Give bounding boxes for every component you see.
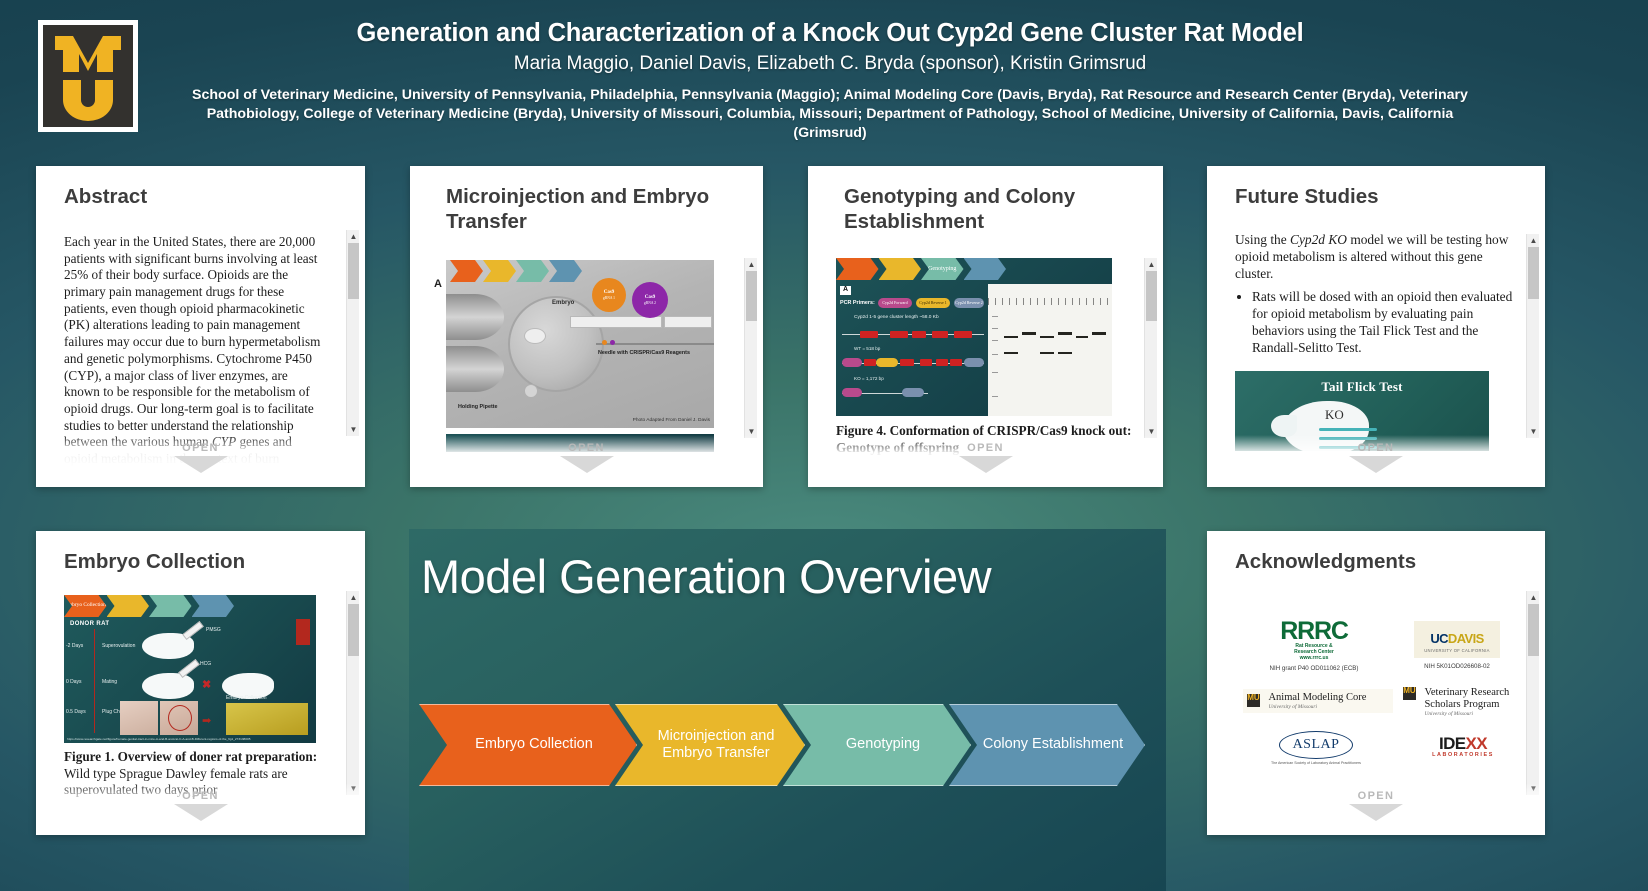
timeline-time-1: 0 Days — [66, 679, 82, 685]
open-affordance-embryo-collection[interactable]: OPEN — [36, 783, 365, 835]
mini-chev-genotyping: Genotyping — [921, 258, 964, 280]
photo-credit: Photo Adapted From Daniel J. Davis — [633, 418, 710, 424]
chevron-up-icon[interactable]: ▲ — [745, 258, 758, 271]
panel-heading: Future Studies — [1207, 166, 1545, 209]
idexx-wordmark: IDEXX — [1407, 735, 1519, 752]
ucdavis-uc: UC — [1430, 631, 1448, 646]
ko-primer-right — [902, 388, 924, 397]
holding-pipette-top — [446, 294, 504, 340]
holding-pipette-bottom — [446, 346, 504, 392]
figure-genotyping: Genotyping A B PCR Primers: Cyp2d Forwar… — [836, 258, 1112, 416]
panel-heading: Abstract — [36, 166, 365, 209]
wt-exon-1 — [864, 359, 876, 366]
mini-chev-colony — [549, 260, 582, 282]
plug-check-photo-1 — [120, 701, 158, 735]
workflow-flowchart: Embryo Collection Microinjection and Emb… — [419, 704, 1154, 786]
logo-idexx: IDEXX LABORATORIES — [1407, 735, 1519, 758]
logo-aslap: ASLAP The American Society of Laboratory… — [1261, 731, 1371, 765]
scrollbar-microinjection[interactable]: ▲ ▼ — [744, 258, 757, 438]
red-marker — [296, 619, 310, 645]
mu-logo — [38, 20, 138, 132]
timeline-axis — [94, 629, 95, 733]
tail-bar-1 — [1319, 428, 1377, 431]
gel-band — [1040, 352, 1054, 354]
mini-chev-microinjection — [107, 595, 150, 617]
scrollbar-thumb[interactable] — [348, 243, 359, 299]
gel-band — [1004, 352, 1018, 354]
gel-band — [1058, 352, 1072, 354]
future-intro-italic: Cyp2d KO — [1290, 232, 1347, 247]
open-label: OPEN — [568, 442, 605, 454]
panel-heading: Microinjection and Embryo Transfer — [410, 166, 763, 234]
mini-workflow-strip — [450, 260, 582, 279]
exon-3 — [912, 331, 926, 338]
rrrc-grant: NIH grant P40 OD011062 (ECB) — [1249, 665, 1379, 672]
open-affordance-microinjection[interactable]: OPEN — [410, 435, 763, 487]
embryo-label: Embryo — [552, 300, 574, 308]
mini-chev-embryo — [450, 260, 483, 282]
chevron-up-icon[interactable]: ▲ — [347, 230, 360, 243]
list-item: Rats will be dosed with an opioid then e… — [1252, 289, 1519, 357]
rat-female-2 — [142, 673, 194, 699]
timeline-time-0: -2 Days — [66, 643, 83, 649]
mini-chev-colony — [964, 258, 1007, 280]
abstract-text-pre: Each year in the United States, there ar… — [64, 234, 320, 449]
ucdavis-davis: DAVIS — [1448, 631, 1484, 646]
holding-pipette-label: Holding Pipette — [458, 404, 498, 411]
page-title: Generation and Characterization of a Kno… — [150, 18, 1510, 48]
logo-ucdavis: UCDAVIS UNIVERSITY OF CALIFORNIA NIH 5K0… — [1397, 621, 1517, 670]
wt-primer-left — [842, 358, 862, 367]
panel-embryo-collection[interactable]: Embryo Collection Embryo Collection DONO… — [36, 531, 365, 835]
author-list: Maria Maggio, Daniel Davis, Elizabeth C.… — [150, 53, 1510, 76]
timeline-event-1: Mating — [102, 679, 117, 685]
exon-4 — [932, 331, 948, 338]
gel-ladder-tick — [992, 372, 998, 373]
mini-chev-colony — [192, 595, 235, 617]
rat-head — [1271, 415, 1297, 437]
scrollbar-genotyping[interactable]: ▲ ▼ — [1144, 258, 1157, 438]
wt-exon-3 — [920, 359, 932, 366]
gel-ladder-tick — [992, 396, 998, 397]
mini-chev-microinjection — [879, 258, 922, 280]
rrrc-sub-3: www.rrrc.us — [1249, 656, 1379, 662]
mini-workflow-strip: Genotyping — [836, 258, 1006, 282]
scrollbar-embryo-collection[interactable]: ▲ ▼ — [346, 591, 359, 795]
flow-step-genotyping[interactable]: Genotyping — [783, 704, 971, 786]
exon-5 — [954, 331, 972, 338]
gel-band — [1040, 336, 1054, 338]
rrrc-wordmark: RRRC — [1249, 619, 1379, 644]
wt-primer-right — [964, 358, 984, 367]
chevron-down-icon — [1349, 456, 1403, 473]
cas9-bubble-1: Cas9 gRNA 1 — [592, 278, 626, 312]
panel-future-studies[interactable]: Future Studies Using the Cyp2d KO model … — [1207, 166, 1545, 487]
chevron-up-icon[interactable]: ▲ — [1145, 258, 1158, 271]
ko-size-label: KO = 1,172 bp — [854, 376, 884, 382]
embryo-cell — [508, 296, 604, 392]
mini-chev-genotyping — [516, 260, 549, 282]
scrollbar-abstract[interactable]: ▲ ▼ — [346, 230, 359, 436]
wt-primer-mid — [876, 358, 898, 367]
panel-heading: Genotyping and Colony Establishment — [808, 166, 1163, 234]
gel-ladder-tick — [992, 354, 998, 355]
panel-acknowledgments[interactable]: Acknowledgments RRRC Rat Resource & Rese… — [1207, 531, 1545, 835]
ucdavis-wordmark: UCDAVIS UNIVERSITY OF CALIFORNIA — [1414, 621, 1500, 658]
mini-chev-genotyping — [149, 595, 192, 617]
panel-model-generation-overview[interactable]: Model Generation Overview Embryo Collect… — [409, 529, 1166, 891]
open-label: OPEN — [967, 442, 1004, 454]
scrollbar-thumb[interactable] — [1528, 604, 1539, 656]
primer-forward: Cyp2d Forward — [878, 298, 912, 308]
ko-primer-left — [842, 388, 862, 397]
open-affordance-abstract[interactable]: OPEN — [36, 435, 365, 487]
open-label: OPEN — [1358, 442, 1395, 454]
section-title: Model Generation Overview — [409, 529, 1166, 604]
chevron-down-icon — [174, 456, 228, 473]
syringe-pmsg — [182, 621, 204, 640]
syringe-hcg — [178, 659, 200, 678]
tail-flick-title: Tail Flick Test — [1235, 371, 1489, 395]
flow-step-colony-establishment[interactable]: Colony Establishment — [949, 704, 1145, 786]
gel-ladder-tick — [992, 340, 998, 341]
idexx-xx: XX — [1466, 734, 1487, 753]
gel-band — [1092, 332, 1106, 335]
reagent-dot-orange — [602, 340, 607, 345]
grna-label-2: gRNA 2 — [644, 301, 656, 306]
panel-genotyping[interactable]: Genotyping and Colony Establishment Geno… — [808, 166, 1163, 487]
cas9-bubble-2: Cas9 gRNA 2 — [632, 282, 668, 318]
primer-reverse-2: Cyp2d Reverse 2 — [954, 298, 984, 308]
chevron-down-icon — [560, 456, 614, 473]
amc-title: Animal Modeling Core — [1268, 692, 1366, 703]
wt-exon-2 — [900, 359, 914, 366]
mini-chev-embryo — [836, 258, 879, 280]
figure-panel-letter-a: A — [840, 286, 851, 295]
logo-rrrc: RRRC Rat Resource & Research Center www.… — [1249, 619, 1379, 672]
affiliation-list: School of Veterinary Medicine, Universit… — [150, 86, 1510, 143]
exon-1 — [860, 331, 878, 338]
cross-icon: ✖ — [202, 679, 211, 693]
hcg-label: HCG — [200, 661, 211, 667]
figure-source-url: https://www.researchgate.net/figure/Fema… — [67, 738, 313, 742]
needle-label: Needle with CRISPR/Cas9 Reagents — [598, 350, 690, 357]
pcr-primers-label: PCR Primers: — [840, 300, 875, 307]
gel-band — [1058, 332, 1072, 335]
ko-label: KO — [1325, 407, 1344, 423]
gel-lane-labels — [988, 298, 1112, 305]
poster-header: Generation and Characterization of a Kno… — [0, 0, 1648, 160]
gel-image — [988, 284, 1112, 416]
primer-reverse-1: Cyp2d Reverse 1 — [916, 298, 950, 308]
pronucleus — [524, 328, 546, 344]
title-block: Generation and Characterization of a Kno… — [150, 18, 1510, 143]
arrow-right-icon: ➡ — [202, 715, 211, 729]
amc-sub: University of Missouri — [1268, 704, 1366, 710]
mu-mark-icon: MU — [1247, 694, 1260, 707]
polar-body — [524, 384, 538, 398]
logo-animal-modeling-core: MU Animal Modeling CoreUniversity of Mis… — [1243, 689, 1393, 713]
gel-band — [1004, 336, 1018, 338]
mu-mark-icon: MU — [1403, 687, 1416, 700]
open-affordance-future-studies[interactable]: OPEN — [1207, 435, 1545, 487]
embryo-collection-label: Embryo Collection — [226, 695, 267, 701]
logo-vrsp: MU Veterinary Research Scholars ProgramU… — [1403, 687, 1539, 717]
cluster-length-label: Cyp2d 1-5 gene cluster length ~58.0 Kb — [854, 315, 939, 321]
mini-chev-embryo: Embryo Collection — [64, 595, 107, 617]
exon-2 — [890, 331, 908, 338]
wt-exon-5 — [950, 359, 962, 366]
open-label: OPEN — [1358, 790, 1395, 802]
figure-caption-bold: Figure 1. Overview of doner rat preparat… — [64, 749, 317, 764]
future-intro-pre: Using the — [1235, 232, 1290, 247]
aslap-wordmark: ASLAP — [1279, 731, 1353, 759]
pmsg-label: PMSG — [206, 627, 221, 633]
flow-step-embryo-collection[interactable]: Embryo Collection — [419, 704, 637, 786]
idexx-ide: IDE — [1439, 734, 1466, 753]
gel-ladder-tick — [992, 328, 998, 329]
open-label: OPEN — [182, 442, 219, 454]
chevron-down-icon — [174, 804, 228, 821]
flow-step-microinjection-embryo-transfer[interactable]: Microinjection and Embryo Transfer — [615, 704, 805, 786]
scrollbar-thumb[interactable] — [1146, 271, 1157, 321]
scrollbar-thumb[interactable] — [746, 271, 757, 321]
poster-canvas: Generation and Characterization of a Kno… — [0, 0, 1648, 891]
gel-band — [1022, 332, 1036, 335]
embryo-dish-photo — [226, 703, 308, 735]
figure-microinjection: Cas9 gRNA 1 Cas9 gRNA 2 Embryo Needle wi… — [446, 260, 714, 428]
donor-rat-label: DONOR RAT — [70, 621, 110, 629]
gel-ladder-tick — [992, 316, 998, 317]
scrollbar-thumb[interactable] — [348, 604, 359, 656]
mini-chev-microinjection — [483, 260, 516, 282]
panel-microinjection[interactable]: Microinjection and Embryo Transfer A — [410, 166, 763, 487]
scrollbar-thumb[interactable] — [1528, 247, 1539, 299]
grna-label-1: gRNA 1 — [603, 296, 615, 301]
open-affordance-genotyping[interactable]: OPEN — [808, 435, 1163, 487]
mini-workflow-strip: Embryo Collection — [64, 595, 234, 617]
scrollbar-acknowledgments[interactable]: ▲ ▼ — [1526, 591, 1539, 795]
timeline-time-2: 0.5 Days — [66, 709, 86, 715]
vrsp-title: Veterinary Research Scholars Program — [1424, 687, 1509, 710]
aslap-sub: The American Society of Laboratory Anima… — [1261, 761, 1371, 765]
ucdavis-grant: NIH 5K01OD026608-02 — [1397, 663, 1517, 670]
panel-heading: Embryo Collection — [36, 531, 365, 574]
chevron-down-icon — [1349, 804, 1403, 821]
idexx-sub: LABORATORIES — [1407, 752, 1519, 758]
scale-ruler-right — [664, 316, 712, 328]
ucdavis-sub: UNIVERSITY OF CALIFORNIA — [1424, 648, 1490, 653]
scrollbar-future-studies[interactable]: ▲ ▼ — [1526, 234, 1539, 438]
wt-size-label: WT = 518 bp — [854, 346, 880, 352]
panel-heading: Acknowledgments — [1207, 531, 1545, 574]
chevron-down-icon — [959, 456, 1013, 473]
wt-exon-4 — [936, 359, 948, 366]
figure-panel-letter: A — [434, 278, 442, 292]
chevron-up-icon[interactable]: ▲ — [1527, 234, 1540, 247]
plug-check-highlight — [168, 705, 192, 731]
chevron-up-icon[interactable]: ▲ — [1527, 591, 1540, 604]
figure-embryo-collection: Embryo Collection DONOR RAT -2 Days Supe… — [64, 595, 316, 743]
reagent-dot-purple — [610, 340, 615, 345]
timeline-event-0: Superovulation — [102, 643, 135, 649]
open-label: OPEN — [182, 790, 219, 802]
panel-abstract[interactable]: Abstract Each year in the United States,… — [36, 166, 365, 487]
future-bullet-list: Rats will be dosed with an opioid then e… — [1235, 289, 1519, 357]
chevron-up-icon[interactable]: ▲ — [347, 591, 360, 604]
vrsp-sub: University of Missouri — [1424, 711, 1532, 717]
open-affordance-acknowledgments[interactable]: OPEN — [1207, 783, 1545, 835]
gel-band — [1076, 336, 1088, 338]
